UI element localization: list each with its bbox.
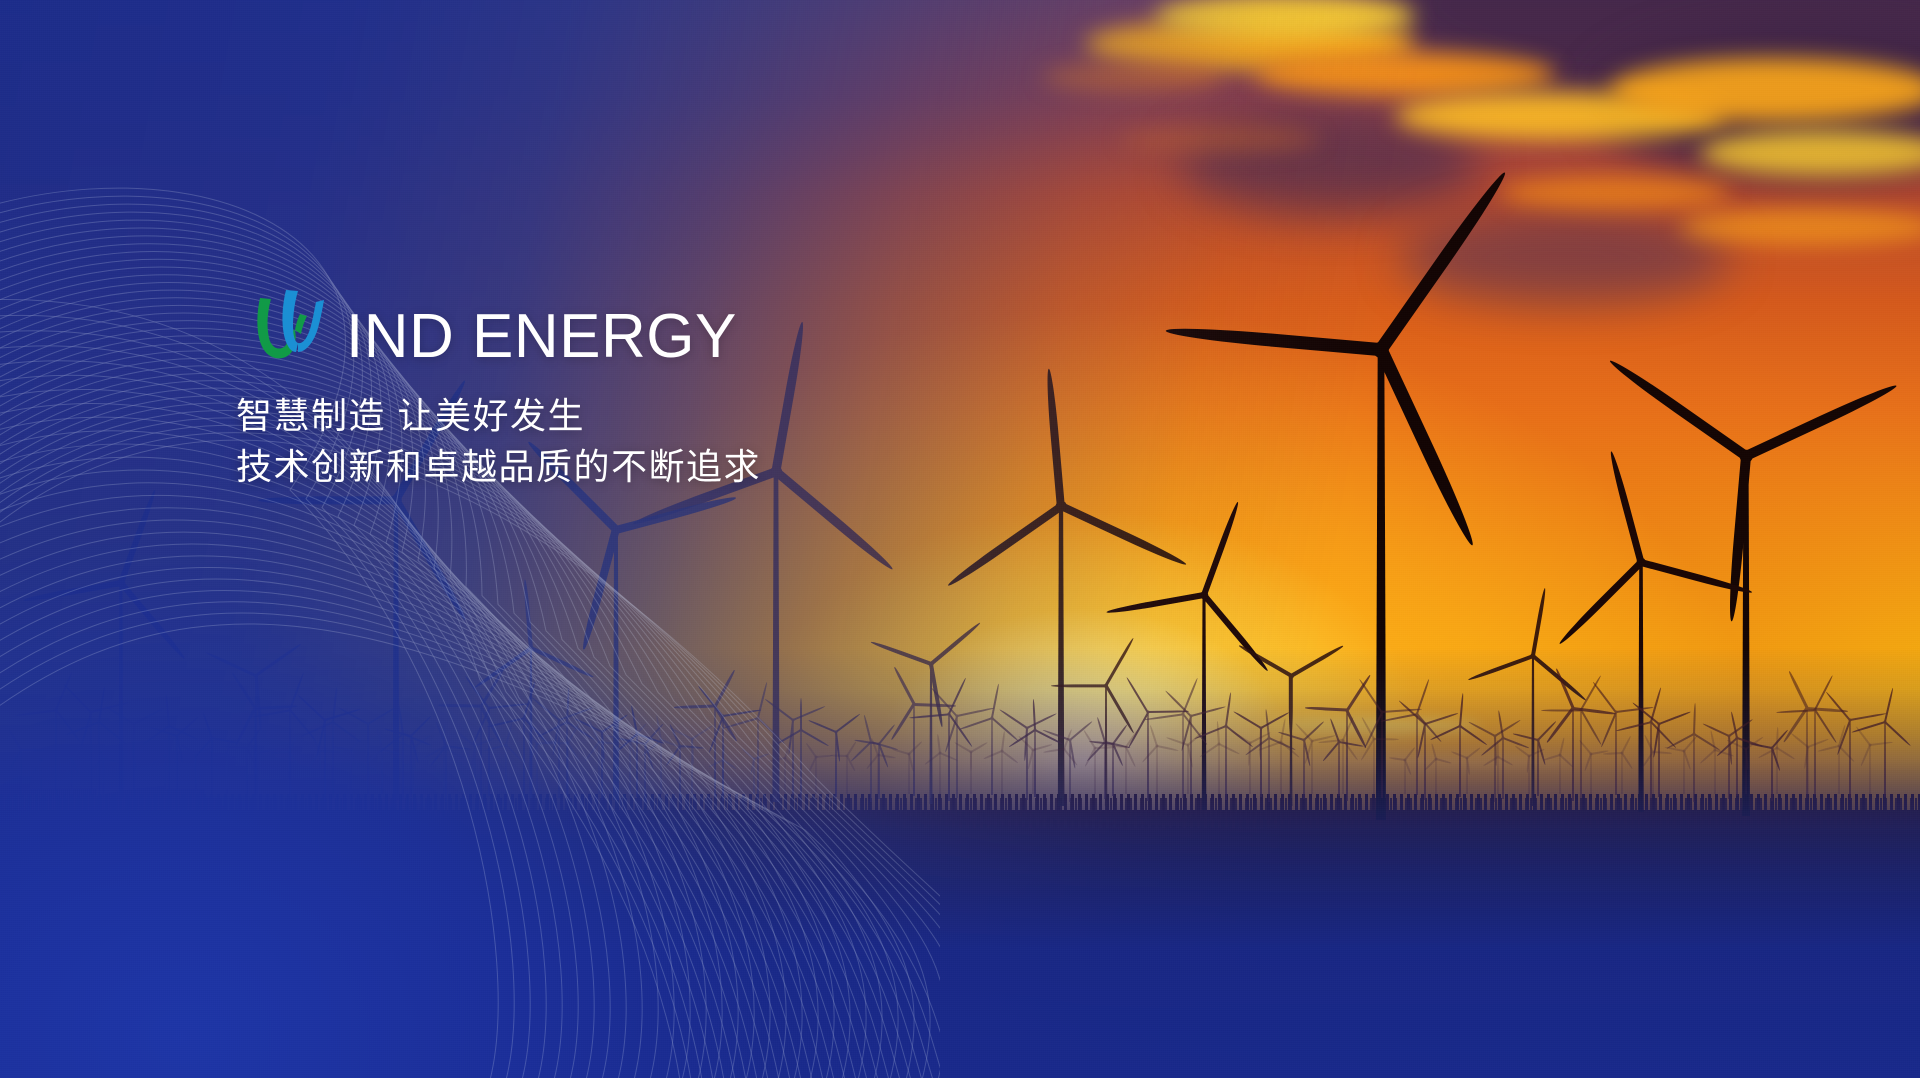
- tagline-line-2: 技术创新和卓越品质的不断追求: [236, 441, 1136, 492]
- brand-wordmark: IND ENERGY: [346, 308, 737, 367]
- wind-w-logomark-icon: [236, 286, 344, 364]
- tagline-block: 智慧制造 让美好发生 技术创新和卓越品质的不断追求: [236, 390, 1136, 492]
- hero-content: IND ENERGY 智慧制造 让美好发生 技术创新和卓越品质的不断追求: [236, 286, 1136, 492]
- tagline-line-1: 智慧制造 让美好发生: [236, 390, 1136, 441]
- brand-lockup: IND ENERGY: [236, 286, 1136, 364]
- wave-lines-decoration: [0, 60, 940, 1078]
- hero-banner: IND ENERGY 智慧制造 让美好发生 技术创新和卓越品质的不断追求: [0, 0, 1920, 1078]
